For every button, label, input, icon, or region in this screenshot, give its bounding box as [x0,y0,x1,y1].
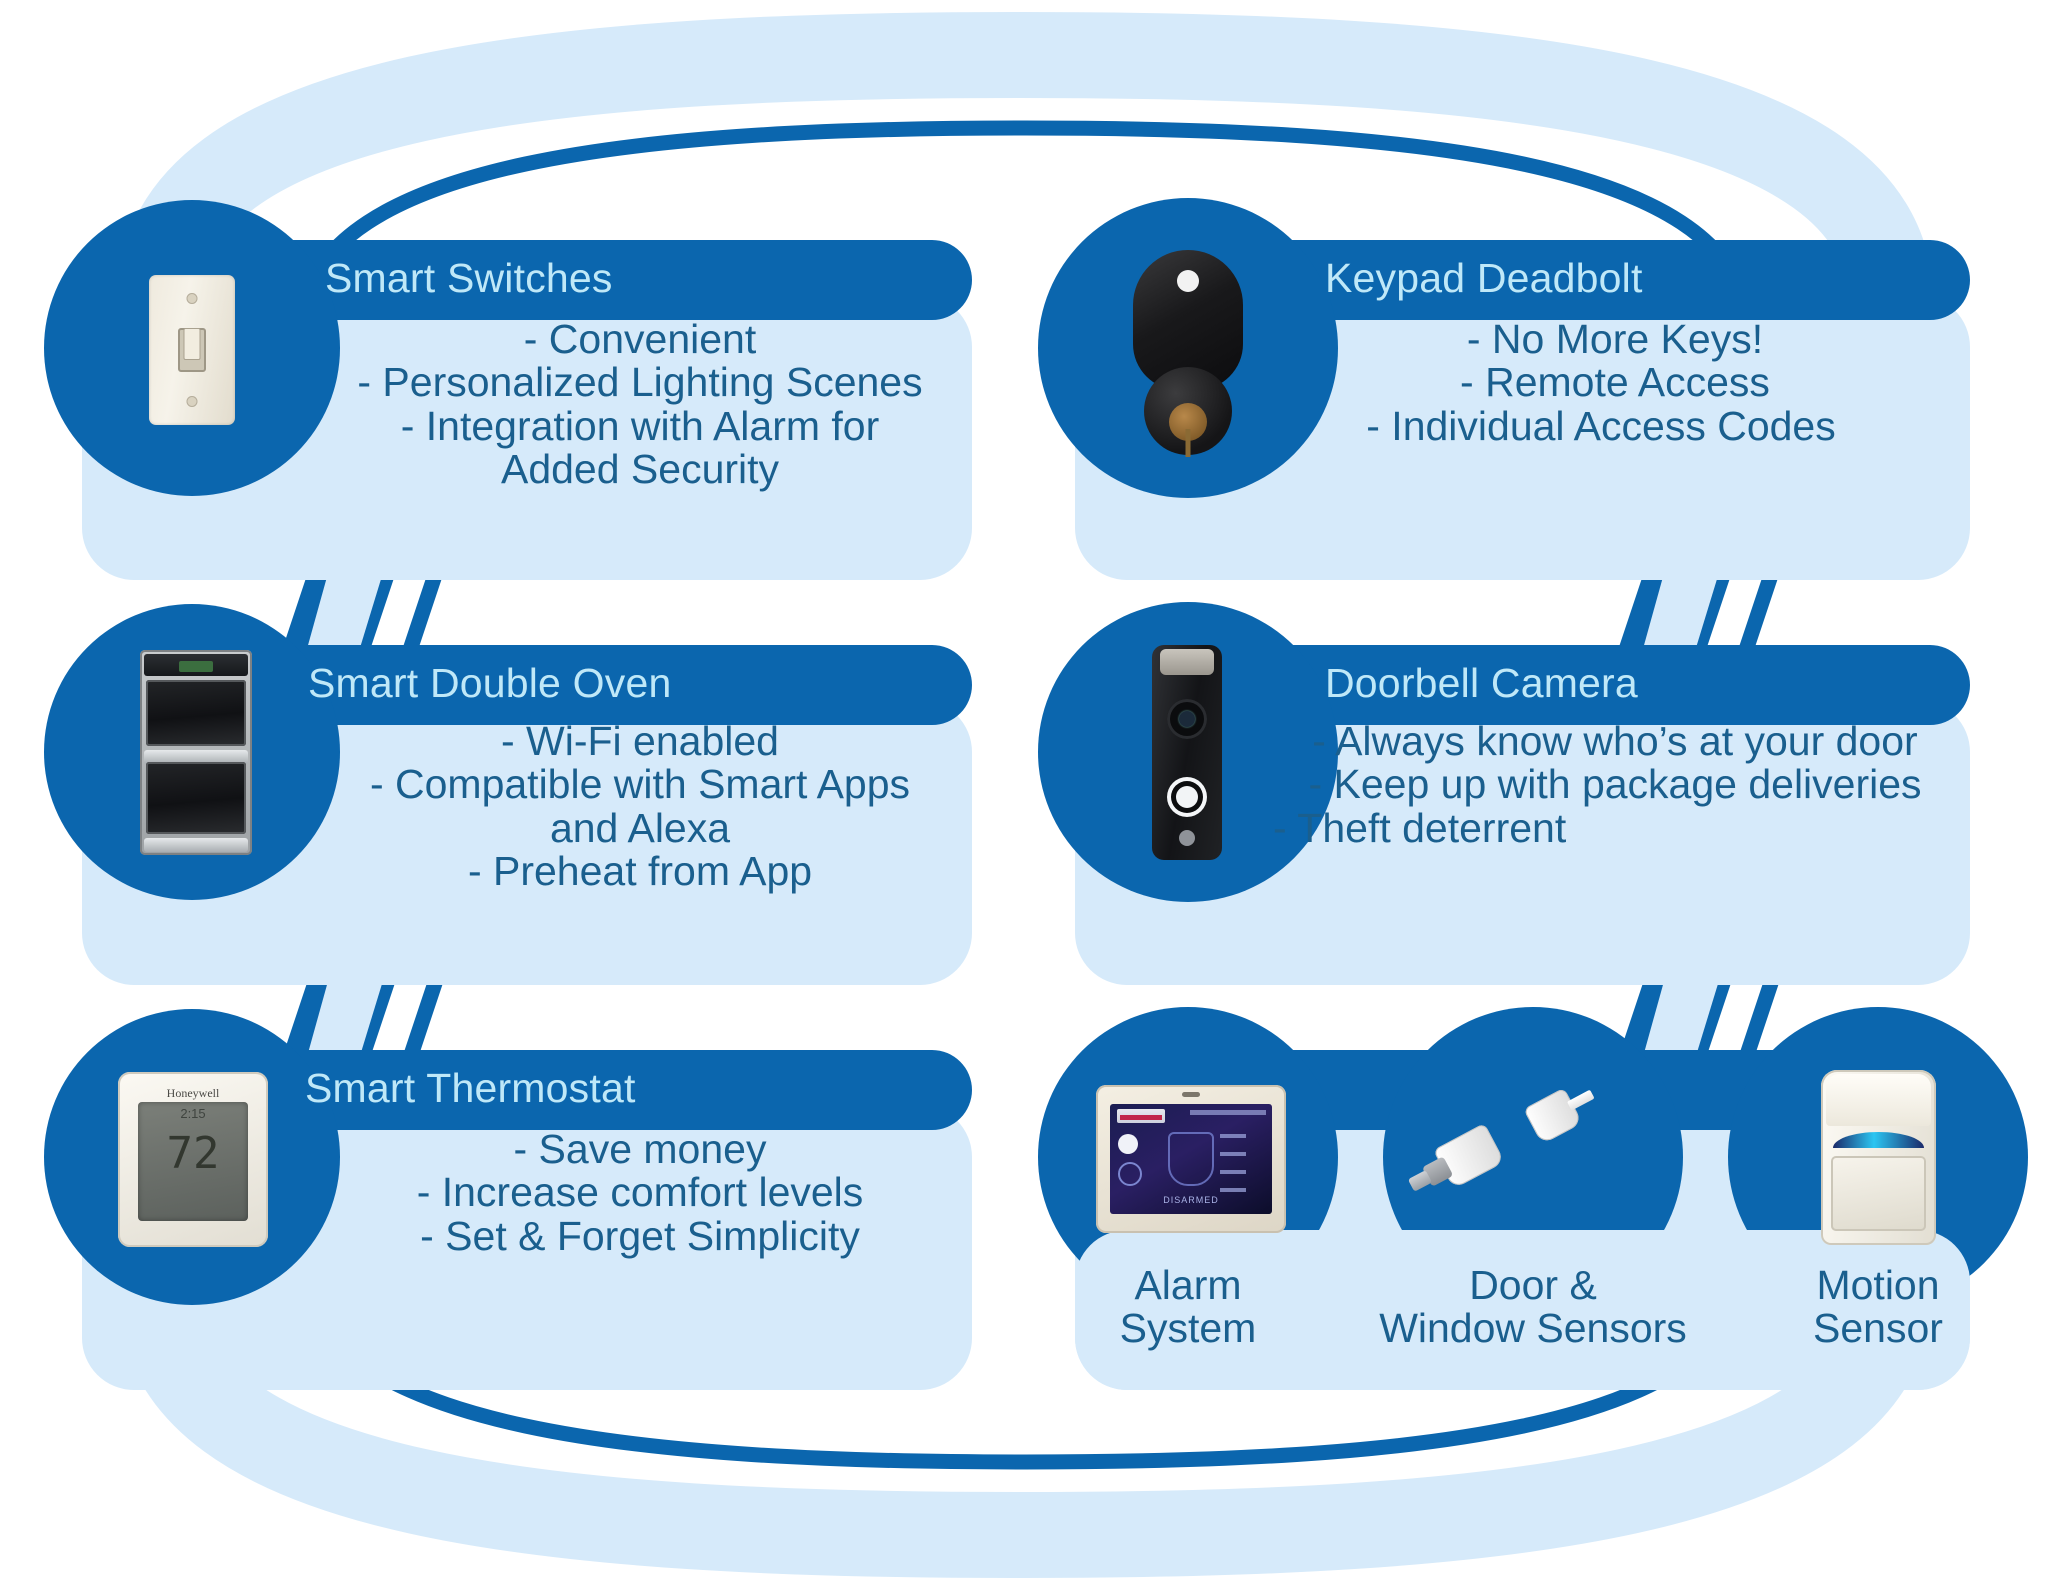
security-label-door-window-sensors: Door & Window Sensors [1373,1264,1693,1351]
alarm-panel-icon: DISARMED [1096,1085,1286,1233]
keypad-deadbolt-icon [1128,250,1248,455]
diagram-canvas: Smart Switches - Convenient - Personaliz… [0,0,2048,1583]
label-line: Sensor [1748,1307,2008,1350]
door-window-sensor-icon [1432,1082,1632,1232]
bullet-item: - Keep up with package deliveries [1255,763,1975,806]
label-line: Alarm [1058,1264,1318,1307]
card-bullets-doorbell-camera: - Always know who’s at your door - Keep … [1255,720,1975,850]
bullet-item: - Personalized Lighting Scenes [330,361,950,404]
card-bullets-smart-thermostat: - Save money - Increase comfort levels -… [320,1128,960,1258]
label-line: Window Sensors [1373,1307,1693,1350]
bullet-item: - Save money [320,1128,960,1171]
bullet-item: - Always know who’s at your door [1255,720,1975,763]
bullet-item: - Convenient [330,318,950,361]
bullet-item: - Remote Access [1270,361,1960,404]
double-oven-icon [140,650,252,855]
card-title-smart-switches: Smart Switches [325,258,613,299]
card-title-smart-double-oven: Smart Double Oven [308,663,671,704]
security-label-alarm-system: Alarm System [1058,1264,1318,1351]
card-title-keypad-deadbolt: Keypad Deadbolt [1325,258,1643,299]
alarm-status: DISARMED [1110,1195,1272,1205]
card-title-smart-thermostat: Smart Thermostat [305,1068,636,1109]
thermostat-icon: Honeywell 2:15 72 [118,1072,268,1247]
label-line: Door & [1373,1264,1693,1307]
card-bullets-keypad-deadbolt: - No More Keys! - Remote Access - Indivi… [1270,318,1960,448]
bullet-item: - Set & Forget Simplicity [320,1215,960,1258]
thermostat-time: 2:15 [138,1106,248,1121]
bullet-item: - Compatible with Smart Apps and Alexa [320,763,960,850]
label-line: System [1058,1307,1318,1350]
thermostat-reading: 72 [138,1132,248,1176]
card-bullets-smart-double-oven: - Wi-Fi enabled - Compatible with Smart … [320,720,960,894]
thermostat-brand: Honeywell [118,1086,268,1101]
doorbell-camera-icon [1152,645,1222,860]
card-title-doorbell-camera: Doorbell Camera [1325,663,1638,704]
bullet-item: - Increase comfort levels [320,1171,960,1214]
bullet-item: - Wi-Fi enabled [320,720,960,763]
card-bullets-smart-switches: - Convenient - Personalized Lighting Sce… [330,318,950,492]
bullet-item: - Theft deterrent [1255,807,1975,850]
security-label-motion-sensor: Motion Sensor [1748,1264,2008,1351]
bullet-item: - Preheat from App [320,850,960,893]
label-line: Motion [1748,1264,2008,1307]
motion-sensor-icon [1821,1070,1936,1245]
bullet-item: - No More Keys! [1270,318,1960,361]
bullet-item: - Integration with Alarm for Added Secur… [330,405,950,492]
light-switch-icon [149,275,235,425]
bullet-item: - Individual Access Codes [1242,405,1960,448]
